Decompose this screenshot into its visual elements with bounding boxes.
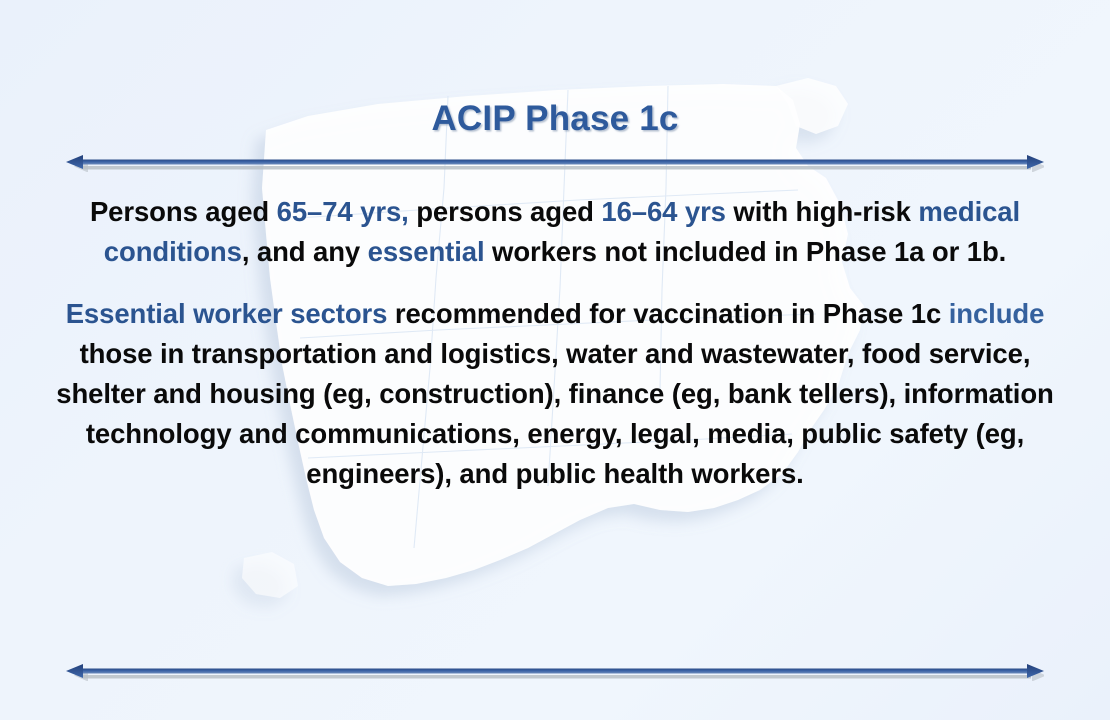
p1-highlight-age-16-64: 16–64 yrs — [601, 196, 726, 227]
p2-text-1: recommended for vaccination in Phase 1c — [387, 298, 948, 329]
p1-text-3: with high-risk — [726, 196, 918, 227]
bottom-divider-arrow-icon — [66, 663, 1044, 681]
p1-highlight-essential: essential — [368, 236, 485, 267]
p2-highlight-include: include — [949, 298, 1045, 329]
paragraph-one: Persons aged 65–74 yrs, persons aged 16–… — [55, 192, 1055, 272]
page-title: ACIP Phase 1c — [0, 99, 1110, 139]
p1-text-5: workers not included in Phase 1a or 1b. — [484, 236, 1006, 267]
body-content: Persons aged 65–74 yrs, persons aged 16–… — [55, 192, 1055, 494]
paragraph-two: Essential worker sectors recommended for… — [55, 294, 1055, 494]
p1-highlight-age-65-74: 65–74 yrs, — [277, 196, 409, 227]
p2-highlight-essential-worker-sectors: Essential worker sectors — [66, 298, 388, 329]
slide-canvas: ACIP Phase 1c — [0, 0, 1110, 720]
top-divider-arrow-icon — [66, 154, 1044, 172]
p1-text-2: persons aged — [409, 196, 602, 227]
p1-text-1: Persons aged — [90, 196, 277, 227]
p2-text-2: those in transportation and logistics, w… — [56, 338, 1054, 489]
p1-text-4: , and any — [242, 236, 368, 267]
